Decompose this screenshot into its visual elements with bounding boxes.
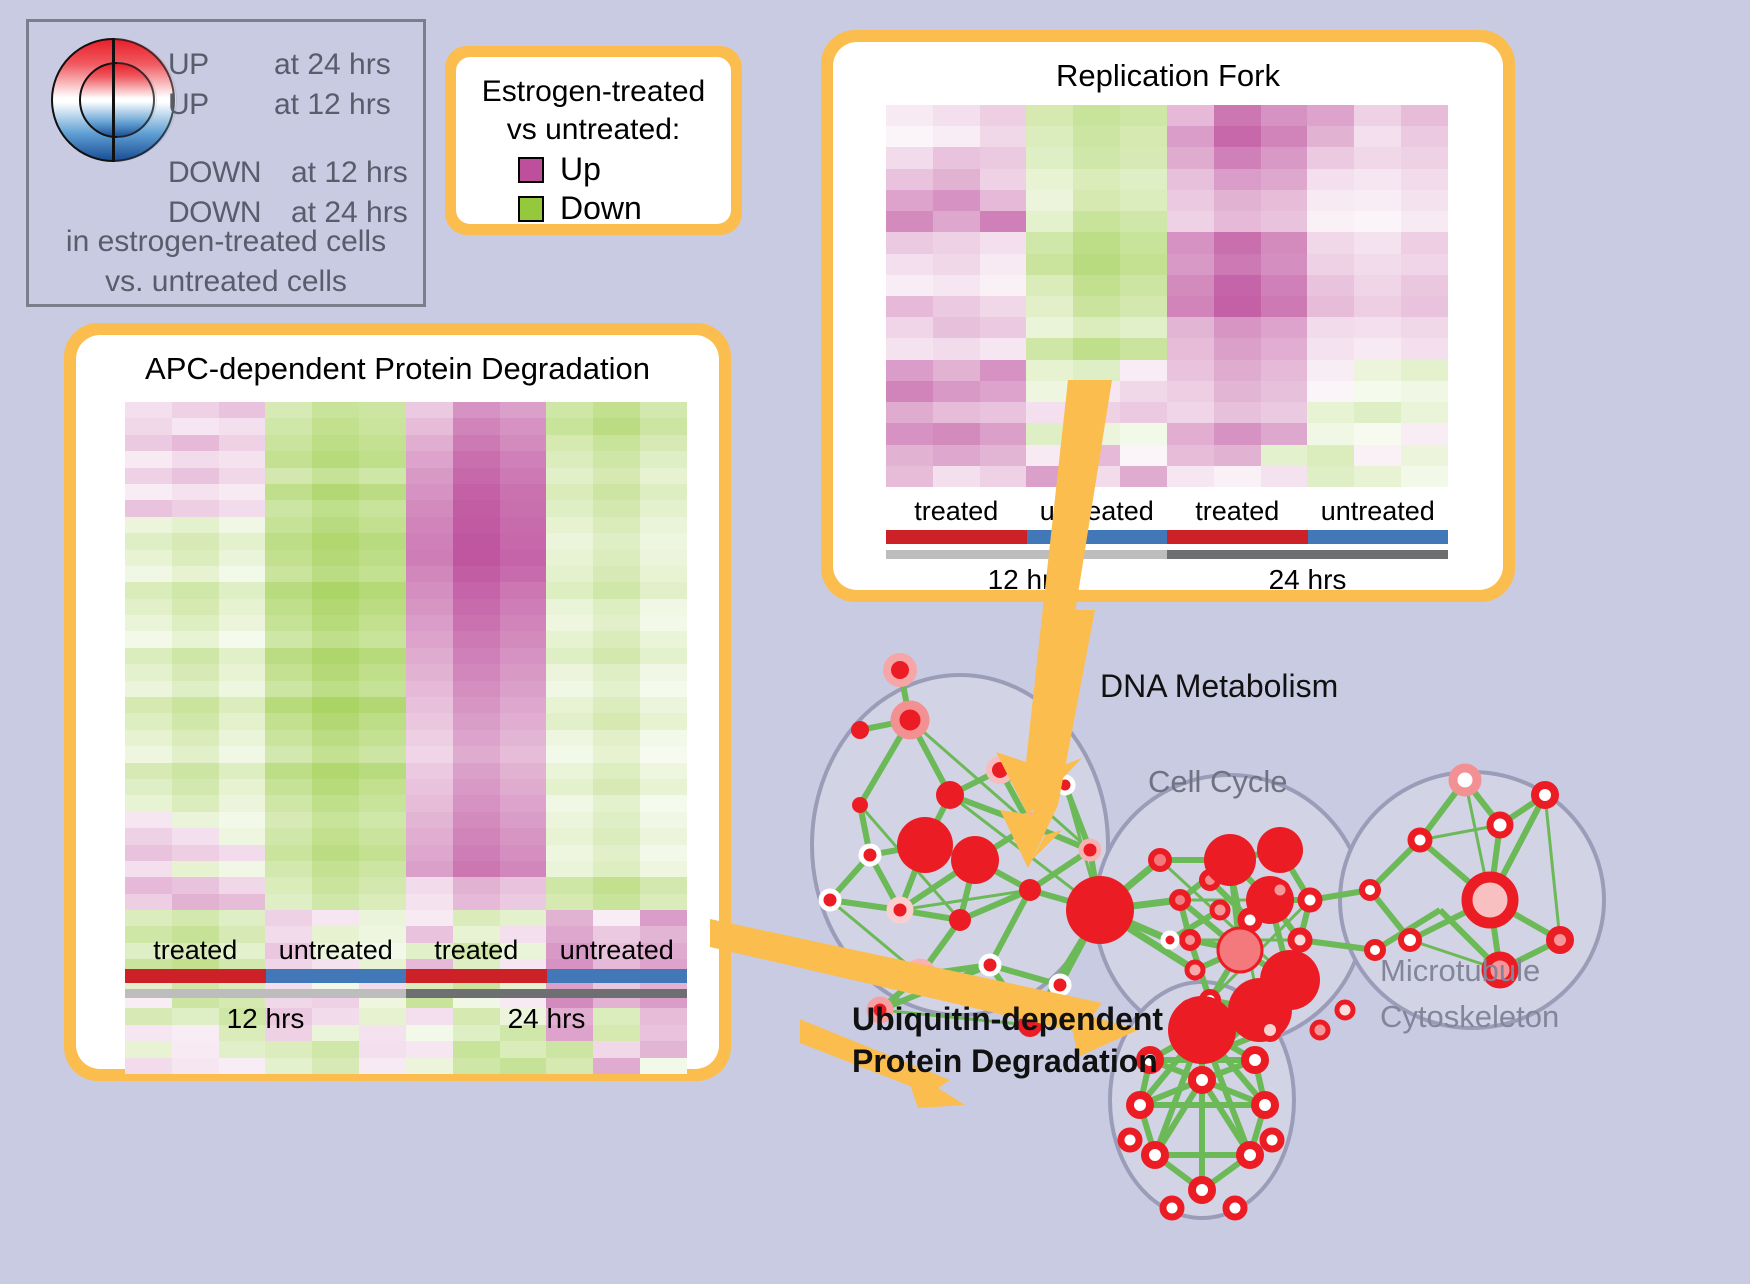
heatmap-cell — [546, 402, 593, 418]
heatmap-cell — [980, 317, 1027, 338]
heatmap-cell — [1120, 232, 1167, 253]
heatmap-cell — [312, 845, 359, 861]
heatmap-cell — [1401, 381, 1448, 402]
heatmap-cell — [1120, 126, 1167, 147]
heatmap-cell — [546, 894, 593, 910]
heatmap-cell — [453, 500, 500, 516]
heatmap-cell — [1120, 445, 1167, 466]
heatmap-cell — [453, 664, 500, 680]
heatmap-cell — [453, 681, 500, 697]
heatmap-cell — [125, 845, 172, 861]
heatmap-cell — [172, 1041, 219, 1057]
heatmap-cell — [359, 402, 406, 418]
cond-label-0: treated — [125, 935, 266, 966]
heatmap-cell — [453, 517, 500, 533]
heatmap-cell — [312, 697, 359, 713]
heatmap-cell — [640, 500, 687, 516]
heatmap-cell — [1167, 445, 1214, 466]
heatmap-cell — [265, 730, 312, 746]
heatmap-cell — [933, 423, 980, 444]
heatmap-cell — [593, 730, 640, 746]
heatmap-cell — [546, 697, 593, 713]
heatmap-cell — [406, 468, 453, 484]
heatmap-cell — [406, 631, 453, 647]
heatmap-cell — [1354, 254, 1401, 275]
heatmap-cell — [312, 566, 359, 582]
heatmap-cell — [172, 730, 219, 746]
heatmap-cell — [640, 894, 687, 910]
colorwheel-footer: in estrogen-treated cells vs. untreated … — [29, 222, 423, 302]
heatmap-cell — [265, 845, 312, 861]
heatmap-cell — [546, 1058, 593, 1074]
heatmap-cell — [500, 500, 547, 516]
heatmap-cell — [1307, 169, 1354, 190]
heatmap-cell — [1214, 211, 1261, 232]
heatmap-cell — [453, 910, 500, 926]
heatmap-cell — [1354, 423, 1401, 444]
heatmap-cell — [886, 169, 933, 190]
heatmap-cell — [406, 517, 453, 533]
heatmap-cell — [1307, 105, 1354, 126]
cond-bar-untreated-12 — [1027, 530, 1168, 544]
heatmap-cell — [125, 664, 172, 680]
heatmap-cell — [359, 664, 406, 680]
heatmap-cell — [453, 713, 500, 729]
heatmap-cell — [1214, 105, 1261, 126]
heatmap-cell — [546, 484, 593, 500]
heatmap-cell — [1354, 211, 1401, 232]
heatmap-cell — [593, 713, 640, 729]
heatmap-cell — [1401, 402, 1448, 423]
cond-bar-treated-12 — [125, 969, 266, 983]
heatmap-cell — [1307, 466, 1354, 487]
heatmap-cell — [265, 648, 312, 664]
heatmap-cell — [593, 418, 640, 434]
heatmap-cell — [1073, 296, 1120, 317]
heatmap-cell — [640, 828, 687, 844]
pathway-network-diagram: DNA Metabolism Cell Cycle Microtubule Cy… — [800, 610, 1750, 1279]
heatmap-cell — [546, 648, 593, 664]
heatmap-cell — [593, 812, 640, 828]
heatmap-cell — [219, 468, 266, 484]
heatmap-cell — [640, 566, 687, 582]
heatmap-cell — [359, 648, 406, 664]
legend-item-up: Up — [518, 151, 721, 188]
heatmap-cell — [546, 812, 593, 828]
heatmap-cell — [219, 812, 266, 828]
heatmap-cell — [500, 582, 547, 598]
heatmap-cell — [406, 1041, 453, 1057]
heatmap-cell — [933, 147, 980, 168]
heatmap-cell — [359, 730, 406, 746]
apc-time-labels: 12 hrs 24 hrs — [125, 1003, 687, 1035]
heatmap-cell — [640, 779, 687, 795]
heatmap-cell — [219, 746, 266, 762]
heatmap-cell — [265, 566, 312, 582]
heatmap-cell — [172, 451, 219, 467]
heatmap-cell — [172, 713, 219, 729]
heatmap-cell — [1073, 105, 1120, 126]
heatmap-cell — [172, 468, 219, 484]
heatmap-cell — [500, 418, 547, 434]
heatmap-cell — [886, 211, 933, 232]
heatmap-cell — [1026, 126, 1073, 147]
heatmap-cell — [640, 451, 687, 467]
heatmap-cell — [453, 631, 500, 647]
heatmap-cell — [546, 681, 593, 697]
heatmap-cell — [593, 894, 640, 910]
heatmap-cell — [1214, 275, 1261, 296]
heatmap-cell — [886, 275, 933, 296]
heatmap-cell — [359, 615, 406, 631]
legend-direction-down-12: DOWN — [168, 156, 261, 190]
heatmap-cell — [546, 1041, 593, 1057]
heatmap-cell — [312, 648, 359, 664]
heatmap-cell — [219, 894, 266, 910]
heatmap-cell — [359, 779, 406, 795]
time-bar-12hrs — [125, 989, 406, 998]
heatmap-cell — [406, 812, 453, 828]
heatmap-cell — [219, 451, 266, 467]
heatmap-cell — [980, 190, 1027, 211]
heatmap-cell — [312, 599, 359, 615]
heatmap-cell — [359, 418, 406, 434]
heatmap-cell — [980, 169, 1027, 190]
heatmap-cell — [219, 664, 266, 680]
heatmap-cell — [406, 1058, 453, 1074]
heatmap-cell — [172, 779, 219, 795]
network-svg — [800, 610, 1750, 1279]
heatmap-cell — [500, 697, 547, 713]
heatmap-cell — [593, 599, 640, 615]
heatmap-cell — [1401, 275, 1448, 296]
colorwheel-footer-line1: in estrogen-treated cells — [29, 222, 423, 262]
updown-legend-card: Estrogen-treated vs untreated: Up Down — [445, 46, 742, 235]
heatmap-cell — [1261, 296, 1308, 317]
heatmap-cell — [980, 466, 1027, 487]
heatmap-cell — [312, 418, 359, 434]
heatmap-cell — [640, 746, 687, 762]
heatmap-cell — [1354, 317, 1401, 338]
heatmap-cell — [265, 484, 312, 500]
heatmap-cell — [359, 566, 406, 582]
heatmap-cell — [1120, 296, 1167, 317]
heatmap-cell — [500, 763, 547, 779]
heatmap-cell — [593, 763, 640, 779]
heatmap-cell — [406, 910, 453, 926]
heatmap-cell — [1073, 381, 1120, 402]
heatmap-cell — [312, 779, 359, 795]
heatmap-cell — [219, 730, 266, 746]
heatmap-cell — [1120, 275, 1167, 296]
cond-label-2: treated — [406, 935, 547, 966]
heatmap-cell — [1167, 296, 1214, 317]
heatmap-cell — [406, 877, 453, 893]
heatmap-cell — [1307, 190, 1354, 211]
heatmap-cell — [640, 435, 687, 451]
heatmap-cell — [1026, 211, 1073, 232]
heatmap-cell — [265, 812, 312, 828]
heatmap-cell — [219, 615, 266, 631]
replication-time-labels: 12 hrs 24 hrs — [886, 564, 1448, 596]
heatmap-cell — [546, 746, 593, 762]
heatmap-cell — [980, 338, 1027, 359]
heatmap-cell — [1120, 360, 1167, 381]
colorwheel-footer-line2: vs. untreated cells — [29, 262, 423, 302]
heatmap-cell — [546, 763, 593, 779]
heatmap-cell — [265, 746, 312, 762]
heatmap-cell — [593, 484, 640, 500]
heatmap-cell — [265, 582, 312, 598]
heatmap-cell — [500, 1041, 547, 1057]
heatmap-cell — [265, 779, 312, 795]
heatmap-cell — [125, 451, 172, 467]
heatmap-cell — [406, 828, 453, 844]
heatmap-cell — [886, 296, 933, 317]
cond-bar-untreated-24 — [1308, 530, 1449, 544]
heatmap-cell — [172, 681, 219, 697]
heatmap-cell — [219, 795, 266, 811]
heatmap-cell — [933, 105, 980, 126]
heatmap-cell — [359, 1041, 406, 1057]
heatmap-cell — [1401, 445, 1448, 466]
heatmap-cell — [980, 254, 1027, 275]
heatmap-cell — [406, 615, 453, 631]
heatmap-cell — [500, 533, 547, 549]
heatmap-cell — [640, 533, 687, 549]
apc-title: APC-dependent Protein Degradation — [76, 335, 719, 387]
heatmap-cell — [593, 582, 640, 598]
heatmap-cell — [406, 599, 453, 615]
heatmap-cell — [219, 500, 266, 516]
heatmap-cell — [1401, 147, 1448, 168]
heatmap-cell — [1120, 381, 1167, 402]
heatmap-cell — [886, 381, 933, 402]
heatmap-cell — [172, 435, 219, 451]
heatmap-cell — [172, 894, 219, 910]
heatmap-cell — [980, 126, 1027, 147]
heatmap-cell — [359, 550, 406, 566]
cond-label-1: untreated — [1027, 496, 1168, 527]
heatmap-cell — [1261, 381, 1308, 402]
heatmap-cell — [980, 360, 1027, 381]
heatmap-cell — [453, 861, 500, 877]
heatmap-cell — [359, 631, 406, 647]
cluster-label-cell-cycle: Cell Cycle — [1148, 764, 1288, 800]
heatmap-cell — [933, 254, 980, 275]
heatmap-cell — [980, 423, 1027, 444]
heatmap-cell — [546, 795, 593, 811]
heatmap-cell — [1307, 254, 1354, 275]
heatmap-cell — [312, 468, 359, 484]
heatmap-cell — [500, 828, 547, 844]
updown-title-line1: Estrogen-treated — [466, 73, 721, 111]
heatmap-cell — [980, 402, 1027, 423]
heatmap-cell — [1026, 105, 1073, 126]
heatmap-cell — [886, 126, 933, 147]
heatmap-cell — [312, 435, 359, 451]
heatmap-cell — [1401, 211, 1448, 232]
heatmap-cell — [593, 1041, 640, 1057]
heatmap-cell — [1307, 211, 1354, 232]
heatmap-cell — [125, 779, 172, 795]
apc-condition-bar — [125, 969, 687, 983]
heatmap-cell — [1354, 296, 1401, 317]
heatmap-cell — [359, 746, 406, 762]
heatmap-cell — [265, 828, 312, 844]
heatmap-cell — [312, 615, 359, 631]
heatmap-cell — [312, 550, 359, 566]
heatmap-cell — [933, 190, 980, 211]
heatmap-cell — [359, 877, 406, 893]
heatmap-cell — [1120, 254, 1167, 275]
heatmap-cell — [546, 500, 593, 516]
heatmap-cell — [359, 468, 406, 484]
heatmap-cell — [312, 664, 359, 680]
heatmap-cell — [1167, 126, 1214, 147]
heatmap-cell — [453, 615, 500, 631]
heatmap-cell — [886, 402, 933, 423]
heatmap-cell — [359, 894, 406, 910]
heatmap-cell — [1167, 381, 1214, 402]
heatmap-cell — [500, 648, 547, 664]
heatmap-cell — [265, 763, 312, 779]
heatmap-cell — [1214, 423, 1261, 444]
heatmap-cell — [359, 910, 406, 926]
heatmap-cell — [546, 599, 593, 615]
heatmap-cell — [933, 211, 980, 232]
heatmap-cell — [1261, 423, 1308, 444]
heatmap-cell — [640, 402, 687, 418]
heatmap-cell — [172, 795, 219, 811]
heatmap-cell — [593, 861, 640, 877]
heatmap-cell — [312, 533, 359, 549]
heatmap-cell — [312, 582, 359, 598]
heatmap-cell — [406, 550, 453, 566]
colorwheel-legend-box: UP at 24 hrs UP at 12 hrs DOWN at 12 hrs… — [26, 19, 426, 307]
heatmap-cell — [406, 566, 453, 582]
heatmap-cell — [1167, 317, 1214, 338]
heatmap-cell — [125, 435, 172, 451]
heatmap-cell — [359, 861, 406, 877]
heatmap-cell — [933, 317, 980, 338]
heatmap-cell — [312, 681, 359, 697]
heatmap-cell — [406, 435, 453, 451]
time-bar-24hrs — [1167, 550, 1448, 559]
heatmap-cell — [172, 664, 219, 680]
heatmap-cell — [453, 697, 500, 713]
heatmap-cell — [453, 779, 500, 795]
heatmap-cell — [500, 402, 547, 418]
heatmap-cell — [125, 681, 172, 697]
up-swatch-label: Up — [560, 151, 601, 188]
heatmap-cell — [1307, 317, 1354, 338]
heatmap-cell — [406, 779, 453, 795]
heatmap-cell — [219, 681, 266, 697]
heatmap-cell — [500, 631, 547, 647]
heatmap-cell — [1073, 147, 1120, 168]
heatmap-cell — [125, 582, 172, 598]
heatmap-cell — [1026, 402, 1073, 423]
heatmap-cell — [359, 517, 406, 533]
heatmap-cell — [219, 845, 266, 861]
heatmap-cell — [1354, 169, 1401, 190]
heatmap-cell — [886, 445, 933, 466]
heatmap-cell — [640, 681, 687, 697]
legend-time-24-outer: at 24 hrs — [274, 48, 391, 82]
heatmap-cell — [640, 910, 687, 926]
heatmap-cell — [265, 533, 312, 549]
heatmap-cell — [1261, 466, 1308, 487]
heatmap-cell — [125, 648, 172, 664]
heatmap-cell — [453, 550, 500, 566]
heatmap-cell — [500, 779, 547, 795]
heatmap-cell — [406, 664, 453, 680]
heatmap-cell — [453, 484, 500, 500]
microtubule-line1: Microtubule — [1380, 948, 1559, 994]
heatmap-cell — [1026, 466, 1073, 487]
heatmap-cell — [1214, 466, 1261, 487]
heatmap-cell — [312, 828, 359, 844]
heatmap-cell — [219, 763, 266, 779]
heatmap-cell — [125, 910, 172, 926]
heatmap-cell — [546, 861, 593, 877]
heatmap-cell — [265, 550, 312, 566]
heatmap-cell — [1401, 190, 1448, 211]
heatmap-cell — [640, 877, 687, 893]
heatmap-cell — [312, 402, 359, 418]
heatmap-cell — [125, 746, 172, 762]
heatmap-cell — [640, 468, 687, 484]
heatmap-cell — [1307, 360, 1354, 381]
heatmap-cell — [500, 812, 547, 828]
heatmap-cell — [546, 664, 593, 680]
heatmap-cell — [125, 631, 172, 647]
heatmap-cell — [172, 517, 219, 533]
heatmap-cell — [406, 500, 453, 516]
heatmap-cell — [312, 517, 359, 533]
heatmap-cell — [406, 582, 453, 598]
heatmap-cell — [219, 631, 266, 647]
replication-condition-labels: treated untreated treated untreated — [886, 496, 1448, 527]
heatmap-cell — [406, 763, 453, 779]
updown-title-line2: vs untreated: — [466, 111, 721, 149]
heatmap-cell — [1167, 169, 1214, 190]
heatmap-cell — [125, 615, 172, 631]
heatmap-cell — [219, 697, 266, 713]
heatmap-cell — [265, 861, 312, 877]
heatmap-cell — [1261, 211, 1308, 232]
heatmap-cell — [265, 713, 312, 729]
heatmap-cell — [1120, 211, 1167, 232]
heatmap-cell — [359, 435, 406, 451]
heatmap-cell — [406, 402, 453, 418]
heatmap-cell — [593, 1058, 640, 1074]
heatmap-cell — [640, 599, 687, 615]
heatmap-cell — [500, 1058, 547, 1074]
heatmap-cell — [1167, 254, 1214, 275]
heatmap-cell — [593, 468, 640, 484]
heatmap-cell — [265, 894, 312, 910]
heatmap-cell — [1261, 254, 1308, 275]
heatmap-cell — [265, 402, 312, 418]
time-label-24hrs: 24 hrs — [1167, 564, 1448, 596]
heatmap-cell — [1401, 105, 1448, 126]
heatmap-cell — [500, 484, 547, 500]
heatmap-cell — [219, 828, 266, 844]
heatmap-cell — [593, 910, 640, 926]
heatmap-cell — [546, 582, 593, 598]
